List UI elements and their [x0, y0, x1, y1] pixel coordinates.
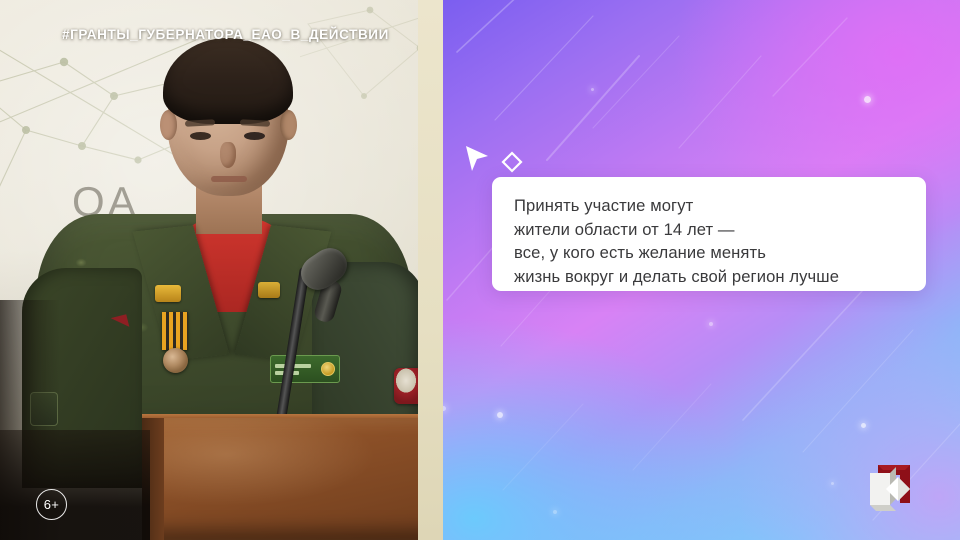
card-text-line-2: жители области от 14 лет —	[514, 218, 906, 242]
foreground-shadow-bottom	[0, 430, 150, 540]
card-text-line-3: все, у кого есть желание менять	[514, 241, 906, 265]
cursor-arrow-icon	[464, 144, 490, 174]
wooden-podium	[142, 418, 443, 540]
announcement-text-card: Принять участие могут жители области от …	[492, 177, 926, 291]
video-frame: ОА	[0, 0, 960, 540]
campaign-hashtag: #ГРАНТЫ_ГУБЕРНАТОРА_ЕАО_В_ДЕЙСТВИИ	[62, 27, 389, 42]
sparkle-dot	[553, 510, 557, 514]
broadcaster-logo-icon	[864, 459, 916, 513]
badge-pin-left-icon	[155, 285, 181, 302]
badge-pin-right-icon	[258, 282, 280, 298]
medal-ribbon-icon	[162, 312, 188, 350]
hair	[163, 38, 293, 124]
diamond-outline-icon	[500, 150, 524, 174]
name-patch-emblem-icon	[321, 362, 335, 376]
sparkle-dot	[861, 423, 866, 428]
age-rating-badge: 6+	[36, 489, 67, 520]
ear-right	[280, 110, 297, 140]
sparkle-dot	[709, 322, 713, 326]
nose	[220, 142, 236, 168]
eye-left	[190, 132, 211, 140]
sparkle-dot	[591, 88, 594, 91]
sparkle-dot	[497, 412, 503, 418]
card-text-line-4: жизнь вокруг и делать свой регион лучше	[514, 265, 906, 289]
card-text-line-1: Принять участие могут	[514, 194, 906, 218]
panel-divider-strip	[418, 0, 443, 540]
sparkle-dot	[443, 406, 446, 411]
mouth	[211, 176, 247, 182]
sparkle-dot	[831, 482, 834, 485]
medal-icon	[163, 348, 188, 373]
sparkle-dot	[864, 96, 871, 103]
uniform-name-patch	[270, 355, 340, 383]
eye-right	[244, 132, 265, 140]
speaker-photo-panel: ОА	[0, 0, 443, 540]
